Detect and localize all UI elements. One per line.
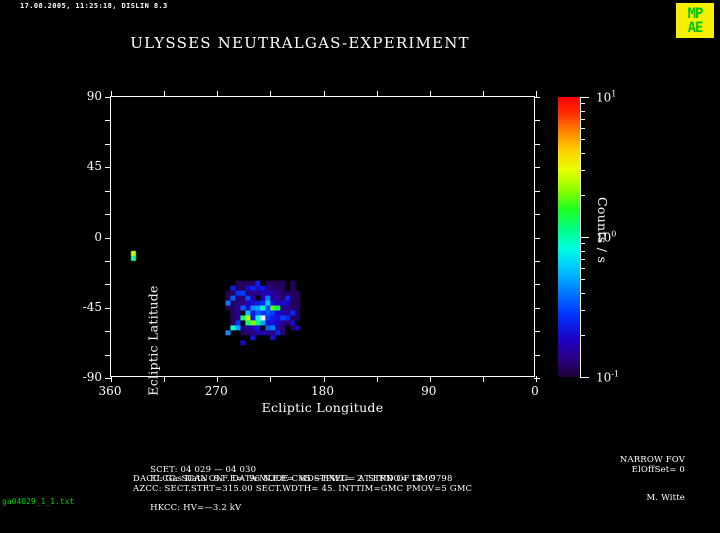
heatmap-canvas — [111, 97, 534, 376]
mpae-logo: MP AE — [676, 3, 714, 38]
colorbar-minor-tick — [580, 195, 585, 196]
colorbar-minor-tick — [580, 251, 585, 252]
x-tick — [483, 376, 484, 382]
y-tick-label-4: -90 — [83, 370, 102, 384]
plot-area: Ecliptic Latitude — [110, 96, 535, 377]
colorbar-minor-tick — [580, 119, 585, 120]
x-tick — [111, 91, 112, 97]
colorbar-minor-tick — [580, 268, 585, 269]
y-tick — [534, 238, 540, 239]
y-tick — [534, 261, 540, 262]
x-tick — [270, 376, 271, 382]
x-tick — [377, 376, 378, 382]
x-tick — [217, 91, 218, 97]
colorbar-minor-tick — [580, 103, 585, 104]
footer-line-scet: SCET: 04 029 — 04 030 NARROW FOV — [133, 456, 693, 466]
colorbar-minor-tick — [580, 259, 585, 260]
footer-annotations: SCET: 04 029 — 04 030 NARROW FOV ELCC: S… — [133, 456, 693, 504]
y-tick-label-0: 90 — [87, 89, 102, 103]
y-tick — [534, 191, 540, 192]
y-tick — [105, 97, 111, 98]
x-tick — [536, 376, 537, 382]
colorbar-minor-tick — [580, 243, 585, 244]
x-tick-label-4: 0 — [531, 384, 539, 398]
y-tick — [105, 308, 111, 309]
y-tick — [534, 355, 540, 356]
colorbar-minor-tick — [580, 128, 585, 129]
x-tick-label-1: 270 — [205, 384, 228, 398]
x-tick-label-2: 180 — [311, 384, 334, 398]
y-tick — [534, 378, 540, 379]
y-tick-label-3: -45 — [83, 300, 102, 314]
y-tick — [534, 120, 540, 121]
y-tick — [105, 378, 111, 379]
y-tick — [534, 214, 540, 215]
footer-line-hkcc: HKCC: HV=—3.2 kV M. Witte — [133, 494, 693, 504]
colorbar-minor-tick — [580, 279, 585, 280]
y-axis-tick-labels: 90450-45-90 — [60, 0, 102, 510]
colorbar-label-top: 101 — [596, 90, 616, 105]
x-tick — [217, 376, 218, 382]
y-tick — [105, 238, 111, 239]
logo-line-1: MP — [688, 7, 703, 21]
y-tick — [105, 120, 111, 121]
plot-window: 17.08.2005, 11:25:18, DISLIN 8.3 MP AE U… — [0, 0, 720, 510]
x-tick — [270, 91, 271, 97]
y-tick-label-1: 45 — [87, 159, 102, 173]
colorbar-minor-tick — [580, 293, 585, 294]
logo-line-2: AE — [688, 21, 703, 35]
colorbar: 101 100 10-1 Counts / s — [558, 97, 678, 377]
x-tick — [483, 91, 484, 97]
x-tick-label-3: 90 — [421, 384, 436, 398]
x-axis-title: Ecliptic Longitude — [110, 400, 535, 415]
y-tick — [534, 331, 540, 332]
colorbar-minor-tick — [580, 170, 585, 171]
y-tick — [105, 191, 111, 192]
colorbar-major-tick — [580, 97, 589, 98]
y-tick — [105, 214, 111, 215]
x-tick — [324, 376, 325, 382]
colorbar-title: Counts / s — [595, 197, 610, 317]
x-tick — [164, 376, 165, 382]
x-tick — [111, 376, 112, 382]
x-tick — [377, 91, 378, 97]
colorbar-label-bottom: 10-1 — [596, 370, 619, 385]
y-tick — [105, 144, 111, 145]
y-tick — [534, 97, 540, 98]
x-tick — [430, 91, 431, 97]
colorbar-gradient — [558, 97, 580, 377]
x-tick — [164, 91, 165, 97]
colorbar-minor-tick — [580, 111, 585, 112]
y-tick — [105, 167, 111, 168]
file-reference-label: ga04029_1_1.txt — [2, 497, 74, 506]
colorbar-minor-tick — [580, 310, 585, 311]
colorbar-minor-tick — [580, 153, 585, 154]
y-tick — [105, 261, 111, 262]
colorbar-minor-tick — [580, 335, 585, 336]
footer-line-azcc: AZCC: SECT.STRT=315.00 SECT.WDTH= 45. IN… — [133, 485, 693, 495]
y-tick — [105, 284, 111, 285]
colorbar-minor-tick — [580, 139, 585, 140]
colorbar-major-tick — [580, 237, 589, 238]
y-tick — [534, 284, 540, 285]
y-tick — [105, 331, 111, 332]
y-tick — [534, 167, 540, 168]
y-tick — [534, 308, 540, 309]
y-tick — [534, 144, 540, 145]
colorbar-major-tick — [580, 377, 589, 378]
y-tick-label-2: 0 — [94, 230, 102, 244]
x-tick — [324, 91, 325, 97]
y-tick — [105, 355, 111, 356]
x-tick — [430, 376, 431, 382]
